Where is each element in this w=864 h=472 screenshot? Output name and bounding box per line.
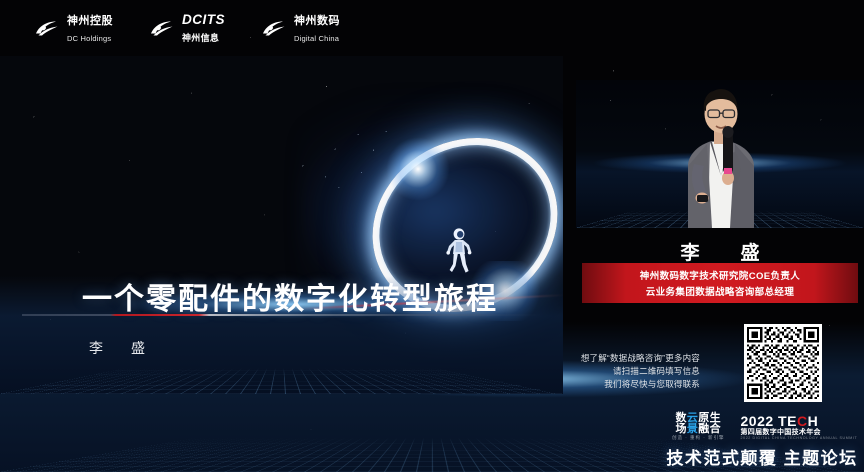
speaker-title-line-2: 云业务集团数据战略咨询部总经理 <box>646 284 795 298</box>
brand-tech-e: E <box>787 413 797 429</box>
logo-label-en: DC Holdings <box>67 34 111 43</box>
astronaut-icon <box>444 226 474 276</box>
forum-title: 技术范式颠覆 主题论坛 <box>666 444 858 469</box>
qr-text-line-2: 请扫描二维码填写信息 <box>580 365 700 378</box>
brand-tech-t: T <box>778 413 787 429</box>
event-branding: 数云原生 场景融合 创造 · 重构 · 新引擎 2022 TECH 第四届数字中… <box>672 414 852 440</box>
speaker-panel: 李 盛 神州数码数字技术研究院COE负责人 云业务集团数据战略咨询部总经理 想了… <box>576 56 864 472</box>
slide-title: 一个零配件的数字化转型旅程 <box>82 274 498 318</box>
brand-year-tech: 2022 TECH <box>741 414 858 428</box>
event-brand-title: 2022 TECH 第四届数字中国技术年会 2022 DIGITAL CHINA… <box>741 414 858 441</box>
speaker-name: 李 盛 <box>576 238 864 265</box>
qr-code-icon[interactable] <box>744 324 822 402</box>
qr-text-line-1: 想了解“数据战略咨询”更多内容 <box>580 352 700 365</box>
event-brand-slogan: 数云原生 场景融合 创造 · 重构 · 新引擎 <box>672 413 725 441</box>
slide-title-divider <box>22 314 542 316</box>
logo-digital-china: 神州数码 Digital China <box>261 11 340 46</box>
brand-char-chang: 场 <box>675 423 686 435</box>
logo-label-cn: DCITS <box>182 12 225 27</box>
brand-tech-h: H <box>808 413 819 429</box>
brand-tagline: 创造 · 重构 · 新引擎 <box>672 436 725 441</box>
qr-contact-block: 想了解“数据战略咨询”更多内容 请扫描二维码填写信息 我们将尽快与您取得联系 <box>576 324 864 412</box>
slide-content-area[interactable]: 一个零配件的数字化转型旅程 李 盛 <box>0 56 563 394</box>
slide-presenter-name: 李 盛 <box>89 338 152 358</box>
speaker-figure <box>576 80 864 228</box>
logo-label-en: 神州信息 <box>182 33 219 43</box>
brand-subtitle-cn: 第四届数字中国技术年会 <box>741 429 858 436</box>
speaker-title-line-1: 神州数码数字技术研究院COE负责人 <box>640 268 800 282</box>
brand-subtitle-en: 2022 DIGITAL CHINA TECHNOLOGY ANNUAL SUM… <box>741 437 858 441</box>
swirl-icon <box>149 18 175 38</box>
brand-char-jing: 景 <box>687 423 698 435</box>
swirl-icon <box>34 18 60 38</box>
logo-dc-holdings: 神州控股 DC Holdings <box>34 11 113 46</box>
qr-text-line-3: 我们将尽快与您取得联系 <box>580 378 700 391</box>
logo-label-en: Digital China <box>294 34 339 43</box>
logo-dcits: DCITS 神州信息 <box>149 11 225 46</box>
brand-tech-c: C <box>797 413 808 429</box>
speaker-title-banner: 神州数码数字技术研究院COE负责人 云业务集团数据战略咨询部总经理 <box>582 263 858 303</box>
logo-label-cn: 神州数码 <box>294 15 340 27</box>
brand-chars-ronghe: 融合 <box>698 423 721 435</box>
speaker-video-feed[interactable] <box>576 80 864 228</box>
qr-instruction-text: 想了解“数据战略咨询”更多内容 请扫描二维码填写信息 我们将尽快与您取得联系 <box>580 352 700 392</box>
swirl-icon <box>261 18 287 38</box>
brand-slogan-line-2: 场景融合 <box>672 424 725 435</box>
ring-flare-top-icon <box>386 137 450 201</box>
logo-label-cn: 神州控股 <box>67 15 113 27</box>
brand-year: 2022 <box>741 413 774 429</box>
partner-logo-bar: 神州控股 DC Holdings DCITS 神州信息 神州数码 D <box>0 0 864 56</box>
